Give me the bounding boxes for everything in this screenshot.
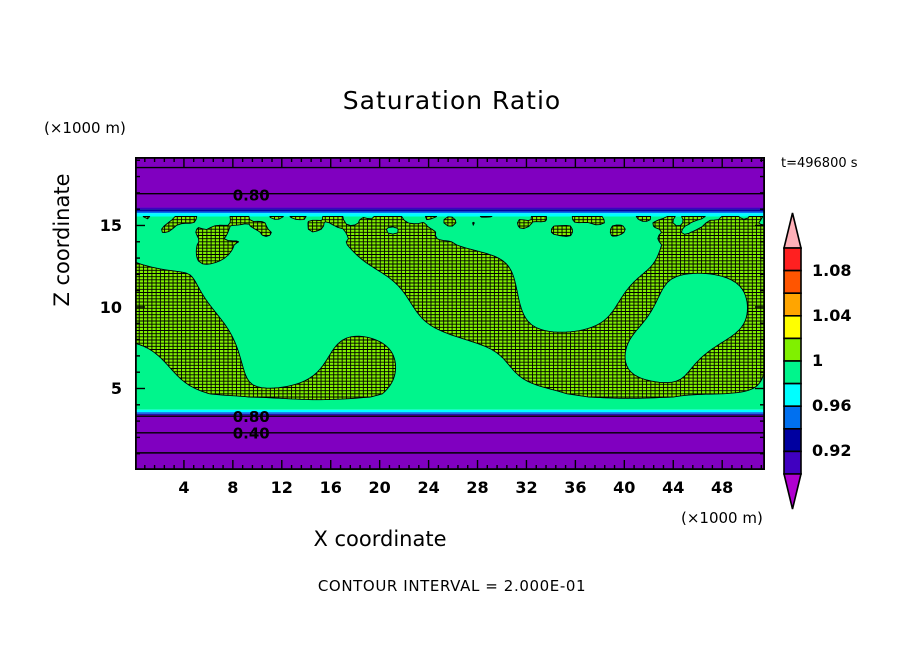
colorbar-tick-label: 0.92 — [812, 441, 851, 460]
colorbar-band — [784, 248, 801, 271]
colorbar-band — [784, 451, 801, 474]
time-annotation: t=496800 s — [781, 156, 858, 171]
layer-lower-cyan — [135, 410, 765, 412]
x-tick-label: 36 — [555, 478, 595, 497]
colorbar-band — [784, 361, 801, 384]
x-tick-label: 28 — [458, 478, 498, 497]
x-tick-label: 20 — [360, 478, 400, 497]
colorbar-tick-label: 1.08 — [812, 261, 851, 280]
layer-upper-cyan — [135, 213, 765, 216]
colorbar-band — [784, 338, 801, 361]
colorbar-arrow-bottom — [784, 474, 801, 509]
x-axis-unit-label: (×1000 m) — [681, 509, 763, 527]
y-tick-label: 10 — [82, 298, 122, 317]
y-tick-label: 15 — [82, 216, 122, 235]
contour-plot-area[interactable]: 0.800.800.40 — [135, 157, 765, 470]
contour-interval-note: CONTOUR INTERVAL = 2.000E-01 — [0, 577, 904, 595]
y-axis-label: Z coordinate — [50, 150, 74, 330]
colorbar-band — [784, 384, 801, 407]
x-tick-label: 8 — [213, 478, 253, 497]
x-tick-label: 24 — [409, 478, 449, 497]
x-tick-label: 44 — [653, 478, 693, 497]
colorbar-band — [784, 271, 801, 294]
layer-lower-purple — [135, 415, 765, 470]
colorbar-band — [784, 316, 801, 339]
colorbar-tick-label: 0.96 — [812, 396, 851, 415]
page-title: Saturation Ratio — [0, 86, 904, 115]
x-tick-label: 48 — [702, 478, 742, 497]
colorbar-tick-label: 1.04 — [812, 306, 851, 325]
contour-label: 0.80 — [233, 408, 270, 426]
layer-upper-navy — [135, 209, 765, 211]
colorbar-band — [784, 293, 801, 316]
x-tick-label: 40 — [604, 478, 644, 497]
contour-label: 0.80 — [233, 186, 270, 204]
colorbar-band — [784, 429, 801, 452]
x-tick-label: 16 — [311, 478, 351, 497]
x-tick-label: 4 — [164, 478, 204, 497]
colorbar[interactable] — [776, 212, 808, 510]
layer-upper-purple — [135, 157, 765, 208]
y-axis-unit-label: (×1000 m) — [44, 119, 126, 137]
layer-upper-violet — [135, 208, 765, 210]
colorbar-arrow-top — [784, 213, 801, 248]
colorbar-band — [784, 406, 801, 429]
y-tick-label: 5 — [82, 379, 122, 398]
contour-label: 0.40 — [233, 425, 270, 443]
contour-plot-figure: Saturation Ratio (×1000 m) t=496800 s 0.… — [0, 0, 904, 654]
layer-lower-blue — [135, 412, 765, 414]
x-tick-label: 32 — [506, 478, 546, 497]
layer-lower-navy — [135, 414, 765, 415]
x-axis-label: X coordinate — [0, 527, 760, 551]
colorbar-tick-label: 1 — [812, 351, 823, 370]
x-tick-label: 12 — [262, 478, 302, 497]
layer-upper-blue — [135, 212, 765, 214]
